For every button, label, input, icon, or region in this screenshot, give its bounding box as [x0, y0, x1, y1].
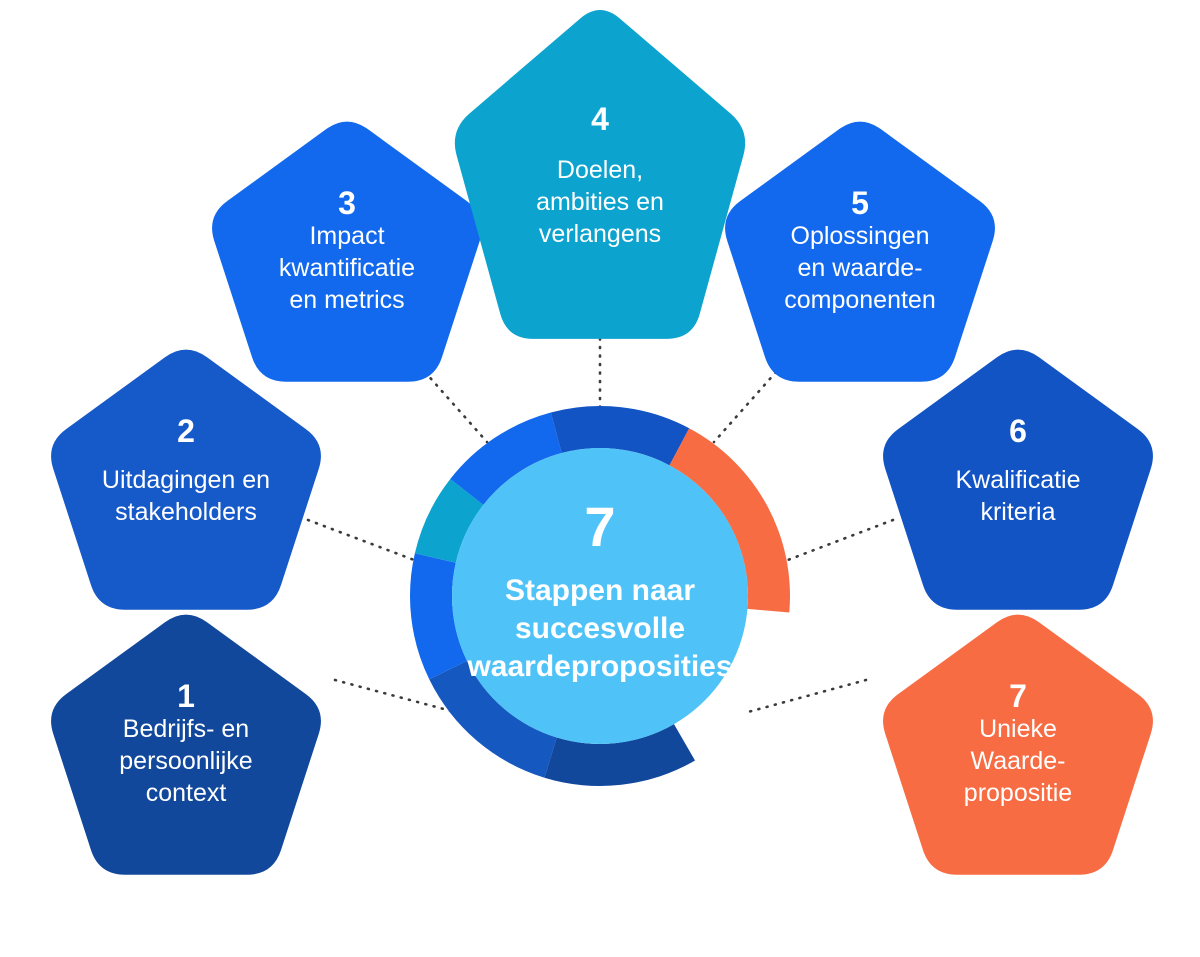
pentagon-label-3-line-3: en metrics: [289, 286, 404, 314]
hub-number: 7: [584, 495, 615, 558]
pentagon-number-5: 5: [851, 185, 869, 221]
pentagon-label-5-line-1: Oplossingen: [791, 222, 930, 250]
connector-line-step-3: [425, 372, 487, 442]
pentagon-label-2-line-1: Uitdagingen en: [102, 466, 270, 494]
pentagon-label-7-line-2: Waarde-: [971, 747, 1066, 775]
pentagon-label-3-line-2: kwantificatie: [279, 254, 415, 282]
connector-line-step-5: [714, 372, 776, 442]
pentagon-label-5-line-2: en waarde-: [797, 254, 922, 282]
pentagon-label-4-line-2: ambities en: [536, 188, 664, 216]
pentagon-label-7-line-1: Unieke: [979, 715, 1057, 743]
pentagon-step-1[interactable]: 1Bedrijfs- enpersoonlijkecontext: [51, 615, 321, 875]
pentagon-shape-3[interactable]: [212, 122, 482, 382]
pentagon-cycle-diagram: 1Bedrijfs- enpersoonlijkecontext2Uitdagi…: [0, 0, 1200, 957]
pentagon-label-6-line-1: Kwalificatie: [955, 466, 1080, 494]
pentagon-step-2[interactable]: 2Uitdagingen enstakeholders: [51, 350, 321, 610]
pentagon-label-1-line-2: persoonlijke: [119, 747, 252, 775]
pentagon-step-5[interactable]: 5Oplossingenen waarde-componenten: [725, 122, 995, 382]
connector-line-step-7: [748, 680, 866, 712]
hub-title-line-1: Stappen naar: [505, 574, 695, 607]
pentagon-number-4: 4: [591, 101, 609, 137]
pentagon-shape-7[interactable]: [883, 615, 1153, 875]
hub-title-line-2: succesvolle: [515, 612, 685, 645]
pentagon-number-3: 3: [338, 185, 356, 221]
pentagon-step-4[interactable]: 4Doelen,ambities enverlangens: [455, 10, 745, 339]
pentagon-label-4-line-1: Doelen,: [557, 156, 643, 184]
connector-line-step-6: [772, 520, 893, 566]
pentagon-step-3[interactable]: 3Impactkwantificatieen metrics: [212, 122, 482, 382]
hub-title-line-3: waardeproposities: [466, 650, 732, 683]
pentagon-label-4-line-3: verlangens: [539, 220, 661, 248]
pentagon-number-7: 7: [1009, 678, 1027, 714]
hub-group: 7Stappen naarsuccesvollewaardepropositie…: [410, 406, 790, 786]
pentagon-number-2: 2: [177, 413, 195, 449]
pentagon-number-1: 1: [177, 678, 195, 714]
pentagon-label-1-line-3: context: [146, 779, 227, 807]
pentagon-shape-5[interactable]: [725, 122, 995, 382]
pentagon-shape-1[interactable]: [51, 615, 321, 875]
pentagon-label-1-line-1: Bedrijfs- en: [123, 715, 249, 743]
pentagon-label-3-line-1: Impact: [309, 222, 384, 250]
pentagon-step-6[interactable]: 6Kwalificatiekriteria: [883, 350, 1153, 610]
pentagon-label-5-line-3: componenten: [784, 286, 936, 314]
pentagon-label-7-line-3: propositie: [964, 779, 1072, 807]
pentagon-step-7[interactable]: 7UniekeWaarde-propositie: [883, 615, 1153, 875]
pentagon-label-2-line-2: stakeholders: [115, 498, 257, 526]
pentagon-label-6-line-2: kriteria: [980, 498, 1055, 526]
connector-line-step-2: [308, 520, 430, 566]
infographic-canvas: 1Bedrijfs- enpersoonlijkecontext2Uitdagi…: [0, 0, 1200, 957]
pentagon-number-6: 6: [1009, 413, 1027, 449]
